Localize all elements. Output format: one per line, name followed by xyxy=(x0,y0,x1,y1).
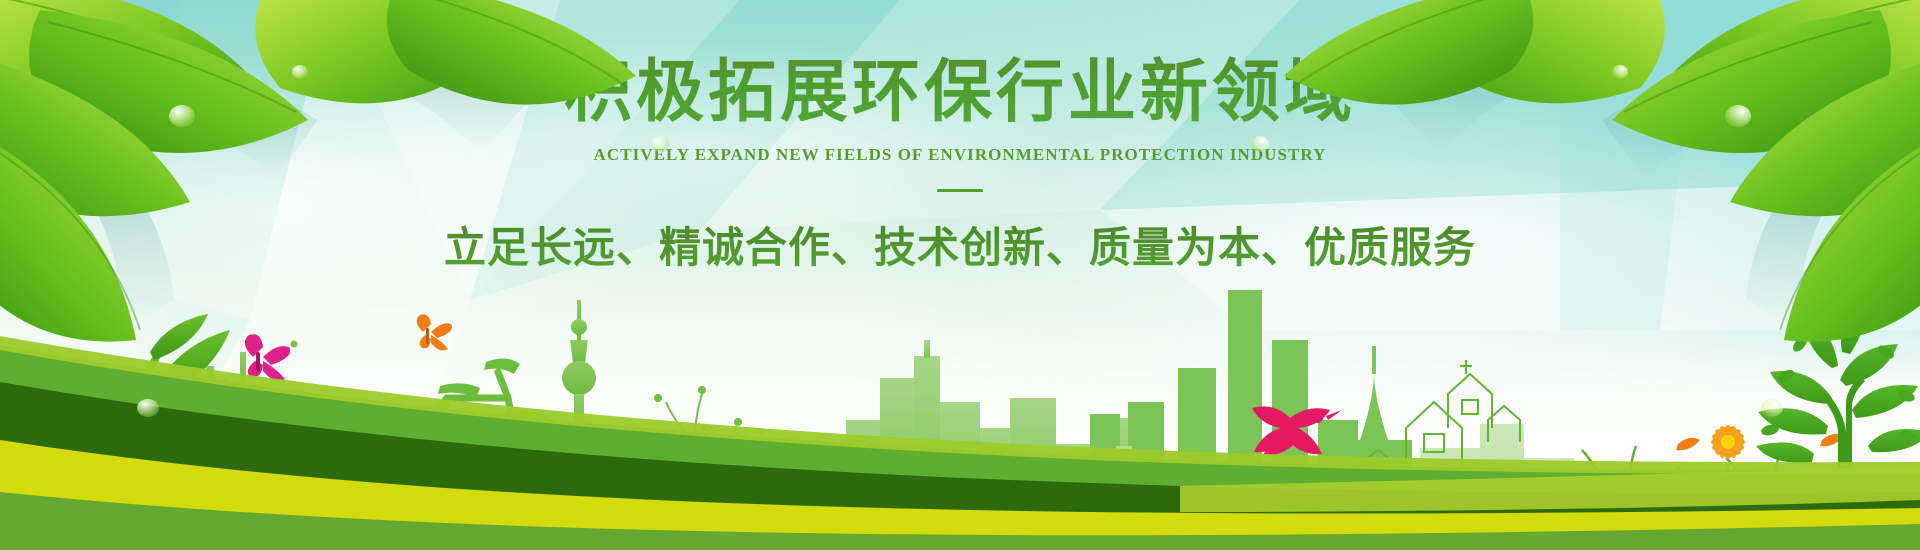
leaf-decorations xyxy=(0,0,1920,550)
leaves-top-right xyxy=(1251,0,1920,417)
eco-banner: 积极拓展环保行业新领域 ACTIVELY EXPAND NEW FIELDS O… xyxy=(0,0,1920,550)
leaves-top-left xyxy=(0,0,669,417)
